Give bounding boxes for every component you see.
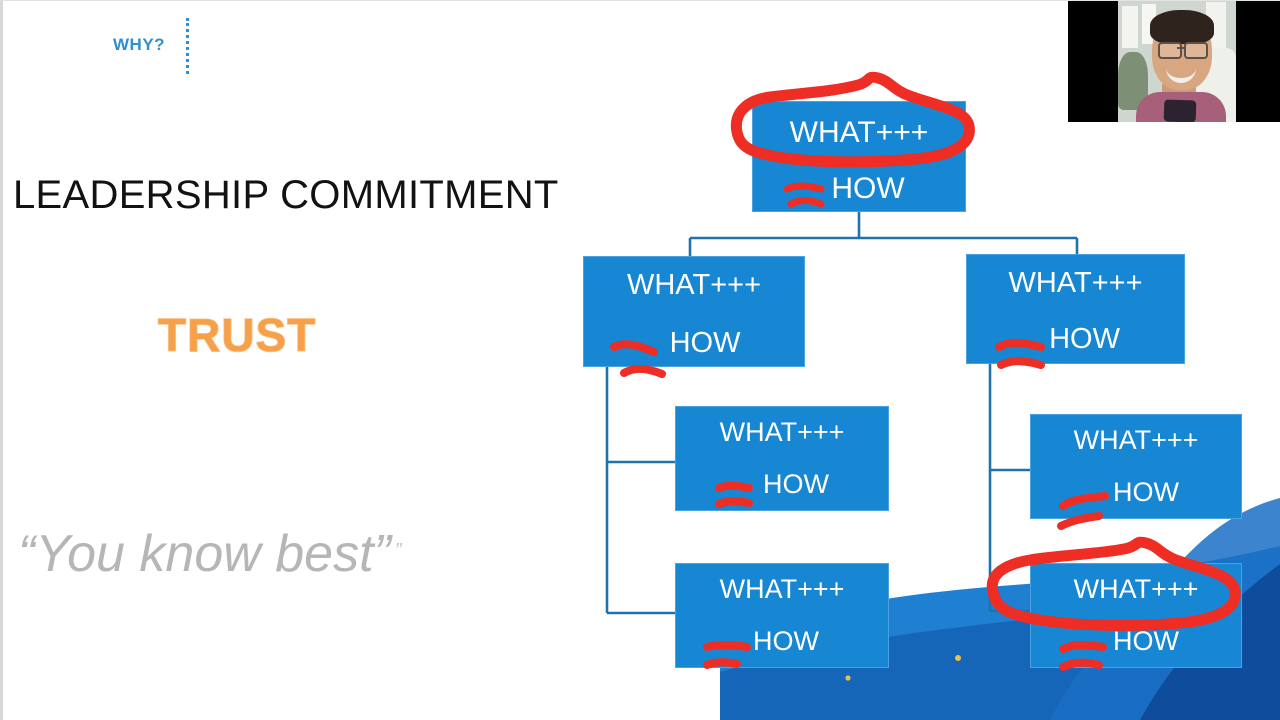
tree-node-left-2a[interactable]: WHAT+++ HOW <box>675 406 889 511</box>
tree-node-left-1[interactable]: WHAT+++ HOW <box>583 256 805 367</box>
node-how-label: HOW <box>1113 626 1179 657</box>
node-what-label: WHAT+++ <box>1031 425 1241 456</box>
node-how-row: HOW <box>753 172 965 206</box>
node-how-row: HOW <box>584 325 804 361</box>
node-how-label: HOW <box>831 172 904 206</box>
node-what-label: WHAT+++ <box>676 574 888 605</box>
glasses-icon <box>1158 42 1182 59</box>
node-how-row: HOW <box>676 624 888 658</box>
tree-node-right-2a[interactable]: WHAT+++ HOW <box>1030 414 1242 519</box>
glasses-icon <box>1184 42 1208 59</box>
photo-collar <box>1164 99 1197 122</box>
node-what-label: WHAT+++ <box>753 116 965 150</box>
node-how-row: HOW <box>967 321 1184 357</box>
tree-node-right-1[interactable]: WHAT+++ HOW <box>966 254 1185 364</box>
node-what-label: WHAT+++ <box>584 269 804 302</box>
node-how-label: HOW <box>670 327 741 360</box>
node-how-label: HOW <box>763 469 829 500</box>
node-what-label: WHAT+++ <box>1031 574 1241 605</box>
photo-hair <box>1150 10 1214 44</box>
node-how-row: HOW <box>1031 475 1241 509</box>
node-how-label: HOW <box>1113 477 1179 508</box>
tree-node-root[interactable]: WHAT+++ HOW <box>752 101 966 212</box>
photo-window <box>1122 6 1138 48</box>
tree-node-right-2b[interactable]: WHAT+++ HOW <box>1030 563 1242 668</box>
presentation-slide: WHY? LEADERSHIP COMMITMENT TRUST “You kn… <box>0 0 1280 720</box>
tree-node-left-2b[interactable]: WHAT+++ HOW <box>675 563 889 668</box>
node-how-row: HOW <box>1031 624 1241 658</box>
presenter-photo <box>1118 0 1236 122</box>
glasses-bridge <box>1177 47 1185 49</box>
node-what-label: WHAT+++ <box>967 267 1184 300</box>
node-how-row: HOW <box>676 467 888 501</box>
node-what-label: WHAT+++ <box>676 417 888 448</box>
presenter-video-thumbnail[interactable] <box>1068 0 1280 122</box>
